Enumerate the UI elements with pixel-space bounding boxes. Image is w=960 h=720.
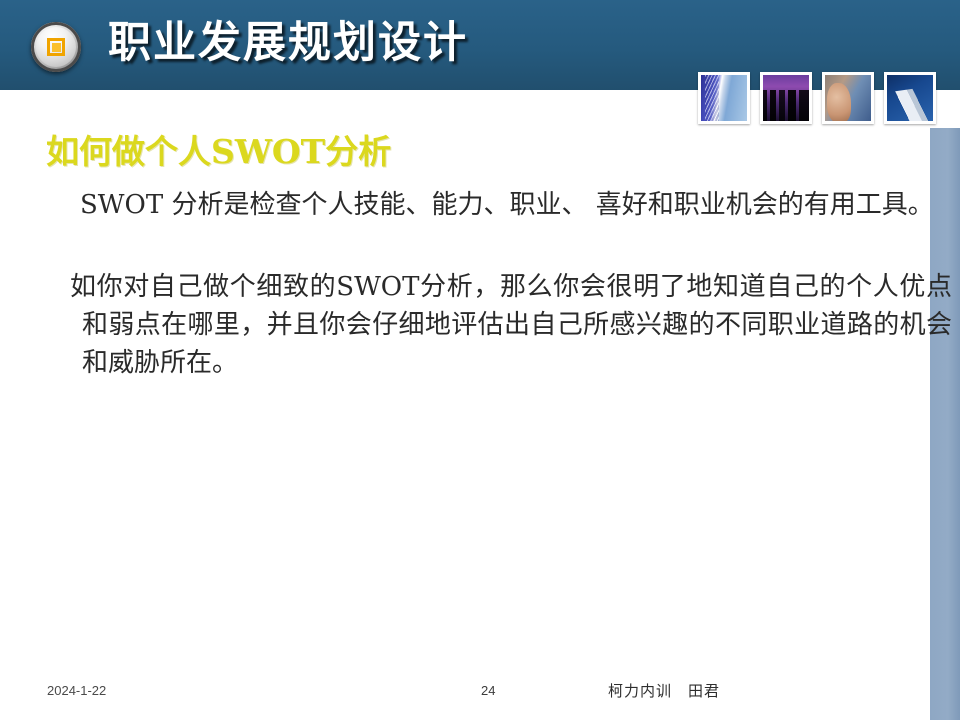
thumbnail-night-city-skyline xyxy=(760,72,812,124)
glass-office-tower-photo xyxy=(701,75,747,121)
presentation-slide: 职业发展规划设计 如何做个人SWOT分析 SWOT 分析是检查个人技能、能力、职… xyxy=(0,0,960,720)
body-paragraph-1: SWOT 分析是检查个人技能、能力、职业、 喜好和职业机会的有用工具。 xyxy=(80,186,947,224)
thumbnail-modern-building xyxy=(884,72,936,124)
night-city-skyline-photo xyxy=(763,75,809,121)
slide-content-title: 如何做个人SWOT分析 xyxy=(46,132,391,172)
slide-header-title: 职业发展规划设计 xyxy=(108,13,468,73)
square-badge-icon xyxy=(31,22,81,72)
logo-square-fill xyxy=(52,43,61,52)
header-thumbnail-strip xyxy=(698,72,954,128)
slide-page-number: 24 xyxy=(481,683,495,698)
footer-date: 2024-1-22 xyxy=(47,683,106,698)
person-on-phone-photo xyxy=(825,75,871,121)
footer-note: 柯力内训 田君 xyxy=(608,680,720,701)
thumbnail-person-on-phone xyxy=(822,72,874,124)
modern-building-blue-sky-photo xyxy=(887,75,933,121)
thumbnail-glass-office-tower xyxy=(698,72,750,124)
body-paragraph-2: 如你对自己做个细致的SWOT分析，那么你会很明了地知道自己的个人优点和弱点在哪里… xyxy=(70,268,952,382)
